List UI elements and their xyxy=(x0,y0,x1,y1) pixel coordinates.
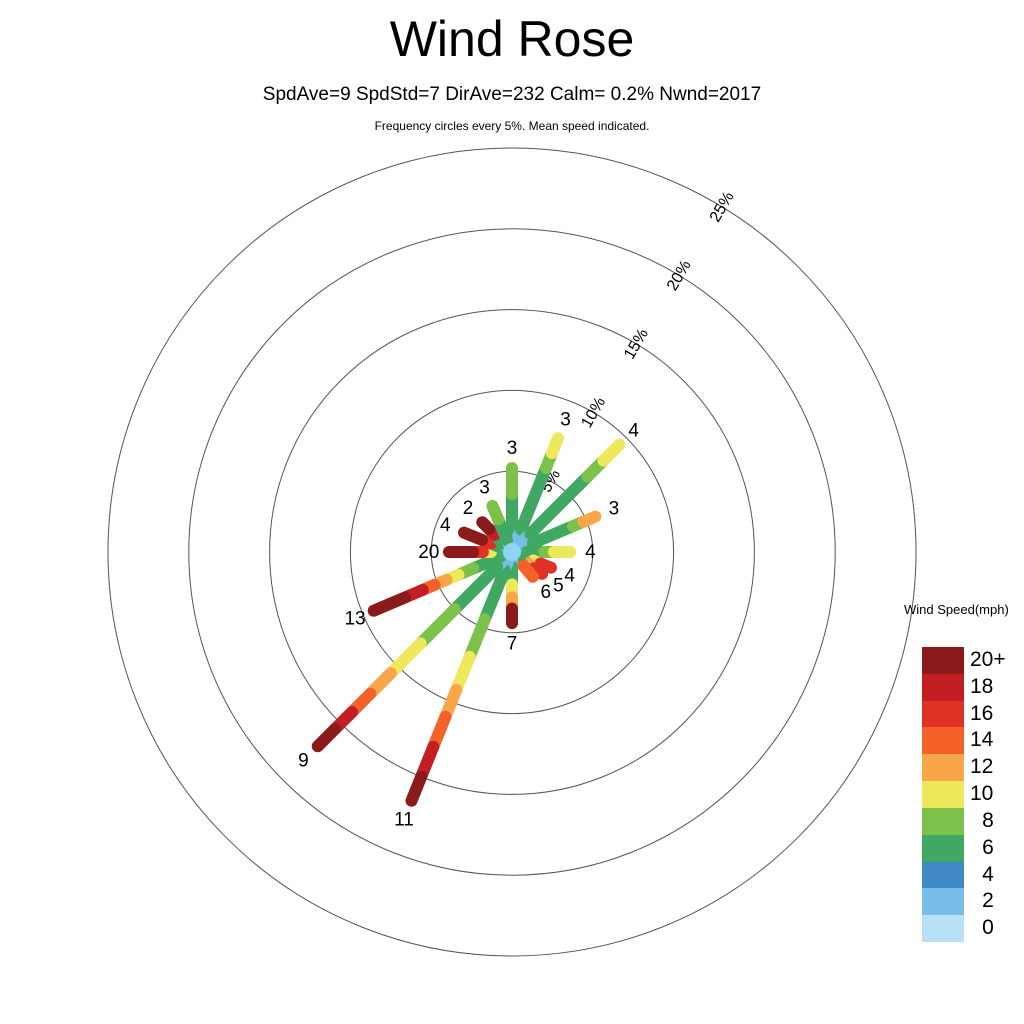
legend-title: Wind Speed(mph) xyxy=(904,602,1009,617)
wind-rose-plot: 5%10%15%20%25%3343445671191320423 xyxy=(0,0,1024,1024)
petal-speed-label: 6 xyxy=(540,582,551,603)
petal-speed-label: 9 xyxy=(298,751,309,772)
petal-speed-label: 4 xyxy=(440,515,451,536)
legend-swatch xyxy=(922,808,964,835)
ring-label: 10% xyxy=(578,395,609,431)
ring-label: 20% xyxy=(664,258,695,294)
legend-swatch xyxy=(922,647,964,674)
legend-color-bar xyxy=(922,647,964,942)
legend-swatch xyxy=(922,862,964,889)
petal-segment xyxy=(552,438,558,453)
petal-speed-label: 3 xyxy=(479,477,490,498)
petal-speed-label: 4 xyxy=(564,565,575,586)
petal-segment xyxy=(470,619,485,656)
petal-speed-label: 4 xyxy=(585,542,596,563)
legend-label: 8 xyxy=(968,808,1008,835)
legend-label: 0 xyxy=(968,915,1008,942)
petal-segment xyxy=(318,729,335,746)
legend-swatch xyxy=(922,835,964,862)
legend-label: 6 xyxy=(968,835,1008,862)
legend-swatch xyxy=(922,701,964,728)
legend-label: 10 xyxy=(968,781,1010,808)
calm-hub xyxy=(503,543,521,561)
petal-segment xyxy=(528,571,533,577)
petal-segment xyxy=(583,517,595,522)
petal-segment xyxy=(492,506,495,512)
ring-label: 25% xyxy=(707,189,738,225)
ring-labels: 5%10%15%20%25% xyxy=(538,189,738,495)
petal-speed-label: 3 xyxy=(507,438,518,459)
petal-speed-label: 20 xyxy=(418,542,439,563)
legend-swatch xyxy=(922,781,964,808)
legend-swatch xyxy=(922,727,964,754)
petal-segment xyxy=(412,777,422,801)
petal-speed-label: 3 xyxy=(609,499,620,520)
legend-label: 16 xyxy=(968,701,1010,728)
legend-label: 12 xyxy=(968,754,1010,781)
legend-label: 14 xyxy=(968,727,1010,754)
petal-segment xyxy=(603,445,619,461)
petal-segment xyxy=(464,533,482,540)
legend-swatch xyxy=(922,888,964,915)
petal-speed-label: 2 xyxy=(463,498,474,519)
legend-label: 18 xyxy=(968,674,1010,701)
petal-speed-label: 3 xyxy=(560,409,571,430)
petal-speed-label: 7 xyxy=(507,633,518,654)
petal-segment xyxy=(421,609,455,643)
legend-label-list: 20+181614121086420 xyxy=(968,647,1022,942)
petal-segment xyxy=(374,597,405,610)
legend-label: 2 xyxy=(968,888,1008,915)
legend-label: 4 xyxy=(968,862,1008,889)
petal-speed-label: 5 xyxy=(553,576,564,597)
petal-speed-label: 13 xyxy=(344,609,365,630)
petal-segment xyxy=(391,643,421,673)
legend-label: 20+ xyxy=(968,647,1010,674)
legend-swatch xyxy=(922,915,964,942)
ring-label: 15% xyxy=(621,326,652,362)
petal-speed-label: 11 xyxy=(394,809,414,830)
petal-speed-label: 4 xyxy=(628,420,639,441)
legend-swatch xyxy=(922,674,964,701)
legend-swatch xyxy=(922,754,964,781)
petal-segment xyxy=(482,522,489,529)
